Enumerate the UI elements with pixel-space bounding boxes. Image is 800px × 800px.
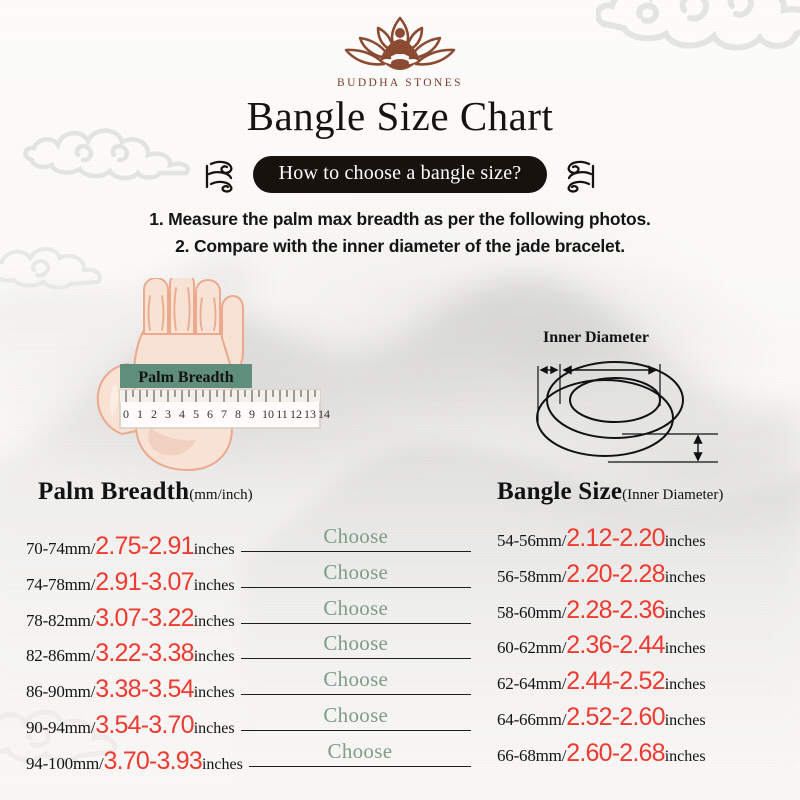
row-mm-range: 86-90mm/ (26, 682, 95, 702)
svg-text:3: 3 (165, 407, 171, 421)
choose-underline (241, 587, 471, 588)
choose-button[interactable]: Choose (241, 631, 471, 661)
choose-underline (241, 730, 471, 731)
svg-text:13: 13 (304, 407, 316, 421)
row-mm-range: 94-100mm/ (26, 754, 104, 774)
table-row: 90-94mm/ 3.54-3.70 inches Choose (26, 703, 471, 739)
hand-palm-measurement-illustration: Palm Breadth 01 23 45 67 89 1011 1213 14 (92, 278, 332, 473)
svg-text:4: 4 (179, 407, 185, 421)
choose-label: Choose (249, 739, 471, 764)
choose-underline (249, 766, 471, 767)
row-unit: inches (202, 756, 243, 774)
choose-underline (241, 551, 471, 552)
instruction-list: 1. Measure the palm max breadth as per t… (0, 206, 800, 260)
row-inch-range: 2.20-2.28 (566, 560, 664, 589)
row-inch-range: 3.38-3.54 (95, 675, 193, 704)
table-row: 66-68mm/ 2.60-2.68 inches (497, 739, 787, 775)
svg-text:8: 8 (235, 407, 241, 421)
brand-name: BUDDHA STONES (0, 77, 800, 89)
table-row: 54-56mm/ 2.12-2.20 inches (497, 524, 787, 560)
row-inch-range: 2.75-2.91 (95, 532, 193, 561)
choose-label: Choose (241, 703, 471, 728)
table-row: 70-74mm/ 2.75-2.91 inches Choose (26, 524, 471, 560)
svg-text:5: 5 (193, 407, 199, 421)
row-unit: inches (194, 541, 235, 559)
table-row: 64-66mm/ 2.52-2.60 inches (497, 703, 787, 739)
row-unit: inches (665, 640, 706, 658)
table-row: 82-86mm/ 3.22-3.38 inches Choose (26, 631, 471, 667)
choose-underline (241, 658, 471, 659)
choose-button[interactable]: Choose (241, 667, 471, 697)
svg-text:2: 2 (151, 407, 157, 421)
svg-text:6: 6 (207, 407, 213, 421)
svg-text:0: 0 (123, 407, 129, 421)
row-inch-range: 3.54-3.70 (95, 711, 193, 740)
row-unit: inches (194, 613, 235, 631)
choose-label: Choose (241, 631, 471, 656)
row-mm-range: 60-62mm/ (497, 638, 566, 658)
bangle-size-heading-title: Bangle Size (497, 478, 622, 505)
page-title: Bangle Size Chart (0, 92, 800, 140)
row-unit: inches (665, 605, 706, 623)
row-mm-range: 82-86mm/ (26, 646, 95, 666)
table-row: 56-58mm/ 2.20-2.28 inches (497, 560, 787, 596)
row-mm-range: 70-74mm/ (26, 539, 95, 559)
row-inch-range: 2.28-2.36 (566, 596, 664, 625)
row-mm-range: 62-64mm/ (497, 674, 566, 694)
row-inch-range: 3.07-3.22 (95, 604, 193, 633)
row-unit: inches (665, 533, 706, 551)
instruction-step-1: 1. Measure the palm max breadth as per t… (0, 206, 800, 233)
choose-label: Choose (241, 560, 471, 585)
choose-button[interactable]: Choose (241, 560, 471, 590)
row-unit: inches (194, 684, 235, 702)
choose-underline (241, 694, 471, 695)
row-inch-range: 3.22-3.38 (95, 639, 193, 668)
table-row: 60-62mm/ 2.36-2.44 inches (497, 631, 787, 667)
row-mm-range: 78-82mm/ (26, 611, 95, 631)
table-row: 62-64mm/ 2.44-2.52 inches (497, 667, 787, 703)
size-chart-page: BUDDHA STONES Bangle Size Chart How to c… (0, 0, 800, 800)
palm-breadth-band: Palm Breadth (120, 364, 252, 388)
table-row: 58-60mm/ 2.28-2.36 inches (497, 596, 787, 632)
row-inch-range: 2.60-2.68 (566, 739, 664, 768)
banner-question: How to choose a bangle size? (253, 156, 548, 193)
table-row: 74-78mm/ 2.91-3.07 inches Choose (26, 560, 471, 596)
row-unit: inches (194, 720, 235, 738)
row-unit: inches (665, 748, 706, 766)
bangle-inner-diameter-illustration: Inner Diameter (508, 326, 763, 476)
row-mm-range: 56-58mm/ (497, 567, 566, 587)
bangle-size-heading-subtitle: (Inner Diameter) (622, 487, 723, 503)
choose-underline (241, 623, 471, 624)
row-unit: inches (665, 569, 706, 587)
row-inch-range: 2.91-3.07 (95, 568, 193, 597)
row-unit: inches (194, 577, 235, 595)
scroll-flourish-left-icon (205, 157, 239, 193)
row-inch-range: 2.36-2.44 (566, 631, 664, 660)
row-unit: inches (665, 712, 706, 730)
palm-breadth-column-heading: Palm Breadth(mm/inch) (38, 478, 253, 506)
choose-label: Choose (241, 596, 471, 621)
row-mm-range: 74-78mm/ (26, 575, 95, 595)
choose-button[interactable]: Choose (249, 739, 471, 769)
row-mm-range: 54-56mm/ (497, 531, 566, 551)
instruction-step-2: 2. Compare with the inner diameter of th… (0, 233, 800, 260)
bangle-size-table: 54-56mm/ 2.12-2.20 inches 56-58mm/ 2.20-… (497, 524, 787, 775)
choose-button[interactable]: Choose (241, 524, 471, 554)
svg-text:9: 9 (249, 407, 255, 421)
palm-breadth-table: 70-74mm/ 2.75-2.91 inches Choose 74-78mm… (26, 524, 471, 775)
palm-breadth-heading-subtitle: (mm/inch) (189, 487, 252, 503)
row-mm-range: 64-66mm/ (497, 710, 566, 730)
row-unit: inches (194, 648, 235, 666)
svg-text:12: 12 (290, 407, 302, 421)
bangle-size-column-heading: Bangle Size(Inner Diameter) (497, 478, 723, 506)
row-mm-range: 66-68mm/ (497, 746, 566, 766)
ruler: 01 23 45 67 89 1011 1213 14 (120, 390, 330, 428)
choose-label: Choose (241, 667, 471, 692)
svg-text:11: 11 (276, 407, 288, 421)
row-inch-range: 3.70-3.93 (104, 747, 202, 776)
svg-text:10: 10 (262, 407, 274, 421)
row-mm-range: 90-94mm/ (26, 718, 95, 738)
svg-text:1: 1 (137, 407, 143, 421)
svg-text:7: 7 (221, 407, 227, 421)
banner-row: How to choose a bangle size? (0, 156, 800, 193)
table-row: 78-82mm/ 3.07-3.22 inches Choose (26, 596, 471, 632)
table-row: 86-90mm/ 3.38-3.54 inches Choose (26, 667, 471, 703)
row-inch-range: 2.12-2.20 (566, 524, 664, 553)
palm-breadth-band-label: Palm Breadth (138, 369, 233, 386)
palm-breadth-heading-title: Palm Breadth (38, 478, 189, 505)
scroll-flourish-right-icon (561, 157, 595, 193)
row-inch-range: 2.44-2.52 (566, 667, 664, 696)
lotus-meditation-icon (342, 14, 458, 76)
row-unit: inches (665, 676, 706, 694)
choose-label: Choose (241, 524, 471, 549)
row-mm-range: 58-60mm/ (497, 603, 566, 623)
choose-button[interactable]: Choose (241, 703, 471, 733)
row-inch-range: 2.52-2.60 (566, 703, 664, 732)
svg-text:14: 14 (318, 407, 330, 421)
choose-button[interactable]: Choose (241, 596, 471, 626)
inner-diameter-label: Inner Diameter (543, 329, 649, 346)
brand-logo-block: BUDDHA STONES (0, 14, 800, 89)
table-row: 94-100mm/ 3.70-3.93 inches Choose (26, 739, 471, 775)
